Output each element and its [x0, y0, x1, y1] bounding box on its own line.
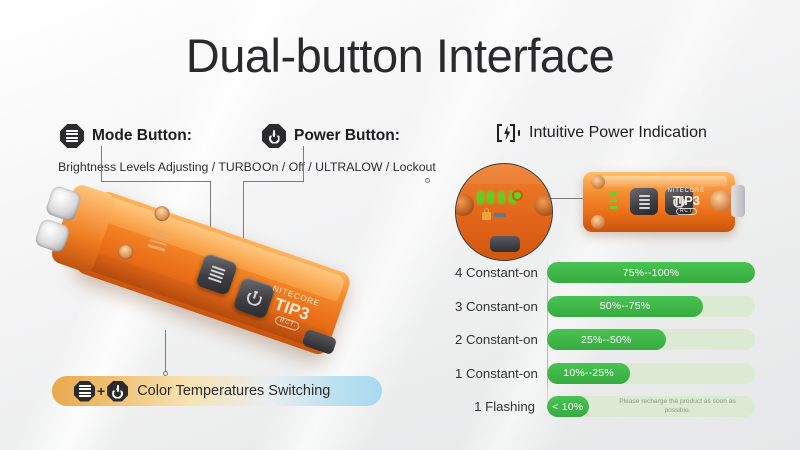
legend-row-track: 50%--75%: [547, 296, 755, 317]
legend-row-track: 25%--50%: [547, 329, 755, 350]
color-temperature-banner: + Color Temperatures Switching: [52, 376, 382, 406]
legend-row: 2 Constant-on25%--50%: [455, 325, 755, 354]
legend-row-bar: < 10%: [547, 396, 589, 417]
infographic-canvas: Dual-button Interface Mode Button: Brigh…: [0, 0, 800, 450]
lock-icon: [482, 212, 491, 220]
legend-row-range: 50%--75%: [600, 300, 651, 312]
power-indication-heading: Intuitive Power Indication: [529, 124, 707, 142]
flashlight-lens-top: [44, 184, 82, 222]
led-indicator-zoom-inset: [455, 163, 553, 261]
legend-row: 4 Constant-on75%--100%: [455, 258, 755, 287]
legend-row-bar: 75%--100%: [547, 262, 755, 283]
leader-line-power-horizontal: [243, 181, 304, 182]
leader-line-power-vertical: [303, 146, 304, 182]
mode-stack-icon: [60, 124, 84, 148]
legend-row-label: 1 Constant-on: [455, 366, 547, 381]
power-icon: [107, 381, 128, 402]
device-mode-button-top[interactable]: [630, 188, 658, 215]
battery-bolt-icon: [497, 124, 520, 142]
highlighted-led: [512, 190, 523, 201]
page-title: Dual-button Interface: [0, 28, 800, 83]
leader-dot-right: [425, 178, 430, 183]
legend-row-track: 75%--100%: [547, 262, 755, 283]
legend-row: 1 Constant-on10%--25%: [455, 359, 755, 388]
leader-line-banner: [165, 330, 166, 374]
mode-button-heading: Mode Button:: [92, 127, 192, 145]
mode-stack-icon: [74, 381, 95, 402]
flashlight-lens-bottom: [34, 218, 71, 254]
legend-row-label: 3 Constant-on: [455, 299, 547, 314]
legend-row-range: 10%--25%: [563, 367, 614, 379]
legend-row: 1 FlashingPlease recharge the product as…: [455, 392, 755, 421]
flashlight-top-view-image: NITECORE TIP3 RCT: [583, 172, 735, 232]
power-indication-header: Intuitive Power Indication: [497, 124, 707, 142]
leader-line-mode-horizontal: [101, 181, 211, 182]
legend-row-bar: 10%--25%: [547, 363, 630, 384]
lock-label-blur: [494, 213, 506, 217]
mode-button-header: Mode Button:: [60, 124, 192, 148]
product-branding-top: NITECORE TIP3 RCT: [668, 188, 705, 215]
power-level-legend: 4 Constant-on75%--100%3 Constant-on50%--…: [455, 258, 755, 426]
legend-row-track: 10%--25%: [547, 363, 755, 384]
legend-row-note: Please recharge the product as soon as p…: [610, 396, 745, 417]
legend-row-range: < 10%: [552, 401, 583, 413]
banner-label: Color Temperatures Switching: [137, 383, 330, 399]
legend-row-bar: 25%--50%: [547, 329, 666, 350]
power-icon: [262, 124, 286, 148]
legend-row-track: Please recharge the product as soon as p…: [547, 396, 755, 417]
plus-symbol: +: [97, 383, 105, 399]
legend-row-label: 4 Constant-on: [455, 265, 547, 280]
power-button-header: Power Button:: [262, 124, 400, 148]
power-button-heading: Power Button:: [294, 127, 400, 145]
leader-line-mode-vertical: [101, 146, 102, 182]
legend-row-label: 2 Constant-on: [455, 332, 547, 347]
mode-button-description: Brightness Levels Adjusting / TURBO: [58, 160, 261, 174]
legend-row: 3 Constant-on50%--75%: [455, 292, 755, 321]
legend-row-range: 75%--100%: [623, 267, 680, 279]
legend-row-bar: 50%--75%: [547, 296, 703, 317]
legend-row-range: 25%--50%: [581, 334, 632, 346]
flashlight-product-image: NITECORE TIP3 RCT: [52, 196, 392, 376]
power-button-description: On / Off / ULTRALOW / Lockout: [262, 160, 436, 174]
legend-row-label: 1 Flashing: [455, 399, 547, 414]
